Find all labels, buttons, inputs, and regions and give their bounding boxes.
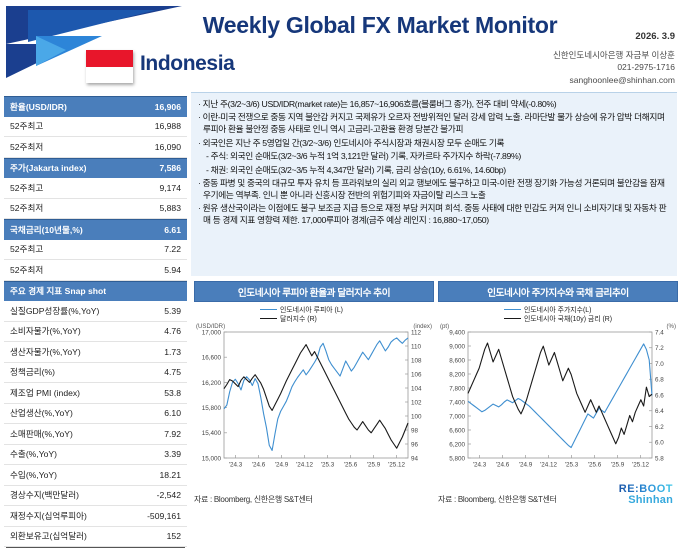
legend-swatch-icon	[260, 309, 277, 310]
table-row-value: 7,586	[159, 163, 181, 173]
svg-text:110: 110	[411, 343, 422, 350]
table-row-value: 7.92	[164, 429, 181, 439]
table-row: 52주최고9,174	[4, 178, 187, 199]
commentary-bullet: · 중동 파병 및 중국의 대규모 투자 유치 등 프라워보의 실리 외교 행보…	[198, 178, 670, 202]
table-row: 생산자물가(%,YoY)1.73	[4, 342, 187, 363]
svg-text:106: 106	[411, 371, 422, 378]
svg-text:9,400: 9,400	[449, 329, 465, 336]
chart-title-equity: 인도네시아 주가지수와 국채 금리추이	[438, 281, 678, 302]
table-row-label: 52주최저	[10, 141, 43, 153]
svg-text:'25.12: '25.12	[632, 462, 649, 469]
table-row-value: 5.94	[164, 265, 181, 275]
table-row: 경상수지(백만달러)-2,542	[4, 486, 187, 507]
svg-text:7,800: 7,800	[449, 385, 465, 392]
svg-text:6.8: 6.8	[655, 377, 664, 384]
table-row-label: 주요 경제 지표 Snap shot	[10, 285, 106, 297]
table-row-label: 주가(Jakarta index)	[10, 162, 86, 174]
svg-text:7,400: 7,400	[449, 399, 465, 406]
table-row-label: 52주최고	[10, 182, 43, 194]
svg-text:'25.9: '25.9	[611, 462, 625, 469]
svg-text:9,000: 9,000	[449, 343, 465, 350]
svg-text:15,400: 15,400	[202, 430, 222, 437]
svg-text:15,000: 15,000	[202, 455, 222, 462]
svg-text:'24.3: '24.3	[473, 462, 487, 469]
contact-block: 신한인도네시아은행 자금부 이상훈 021-2975-1716 sanghoon…	[553, 49, 675, 86]
svg-text:'25.9: '25.9	[367, 462, 381, 469]
series-line	[468, 343, 652, 444]
svg-text:6,600: 6,600	[449, 427, 465, 434]
svg-text:(pt): (pt)	[440, 323, 449, 330]
report-date: 2026. 3.9	[635, 31, 675, 42]
contact-author: 신한인도네시아은행 자금부 이상훈	[553, 49, 675, 61]
table-row: 정책금리(%)4.75	[4, 363, 187, 384]
table-row-label: 제조업 PMI (index)	[10, 387, 80, 399]
chart-title-fx: 인도네시아 루피아 환율과 달러지수 추이	[194, 281, 434, 302]
table-row: 52주최고7.22	[4, 240, 187, 261]
legend-swatch-icon	[260, 318, 277, 319]
svg-text:(USD/IDR): (USD/IDR)	[196, 323, 225, 330]
svg-text:7.0: 7.0	[655, 361, 664, 368]
table-section-header: 환율(USD/IDR)16,906	[4, 96, 187, 117]
svg-text:8,200: 8,200	[449, 371, 465, 378]
svg-text:(index): (index)	[413, 323, 432, 330]
svg-text:7.4: 7.4	[655, 329, 664, 336]
svg-text:94: 94	[411, 455, 419, 462]
page-title: Weekly Global FX Market Monitor	[180, 12, 580, 39]
table-row-value: -2,542	[157, 490, 181, 500]
svg-text:'24.9: '24.9	[519, 462, 533, 469]
table-row-value: 3.39	[164, 449, 181, 459]
svg-text:17,000: 17,000	[202, 329, 222, 336]
chart-legend-item: 인도네시아 국채(10y) 금리 (R)	[504, 313, 612, 323]
svg-text:5.8: 5.8	[655, 455, 664, 462]
table-row: 소매판매(%,YoY)7.92	[4, 424, 187, 445]
table-row-label: 수출(%,YoY)	[10, 448, 57, 460]
table-row-value: 1.73	[164, 347, 181, 357]
legend-label: 인도네시아 국채(10y) 금리 (R)	[524, 316, 612, 323]
page-header: Weekly Global FX Market Monitor 2026. 3.…	[0, 0, 681, 96]
table-section-header: 국채금리(10년물,%)6.61	[4, 219, 187, 240]
svg-text:7,000: 7,000	[449, 413, 465, 420]
table-row-label: 생산자물가(%,YoY)	[10, 346, 81, 358]
svg-text:112: 112	[411, 329, 422, 336]
svg-text:'25.12: '25.12	[388, 462, 405, 469]
svg-text:'25.3: '25.3	[565, 462, 579, 469]
table-section-header: 주요 경제 지표 Snap shot	[4, 281, 187, 302]
svg-text:96: 96	[411, 441, 419, 448]
table-row-value: 4.76	[164, 326, 181, 336]
svg-text:102: 102	[411, 399, 422, 406]
contact-email: sanghoonlee@shinhan.com	[553, 74, 675, 86]
table-row-label: 52주최저	[10, 202, 43, 214]
svg-text:(%): (%)	[667, 323, 676, 330]
legend-swatch-icon	[504, 309, 521, 310]
table-section-header: 주가(Jakarta index)7,586	[4, 158, 187, 179]
svg-text:15,800: 15,800	[202, 405, 222, 412]
chart-card-equity: 인도네시아 주가지수와 국채 금리추이 9,4009,0008,6008,200…	[438, 281, 678, 509]
svg-text:'25.3: '25.3	[321, 462, 335, 469]
table-row-label: 수입(%,YoY)	[10, 469, 57, 481]
country-label: Indonesia	[140, 52, 234, 76]
svg-text:'24.9: '24.9	[275, 462, 289, 469]
commentary-bullet: · 외국인은 지난 주 5영업일 간(3/2~3/6) 인도네시아 주식시장과 …	[198, 138, 670, 150]
table-row-label: 52주최저	[10, 264, 43, 276]
svg-text:6.6: 6.6	[655, 392, 664, 399]
svg-text:16,200: 16,200	[202, 380, 222, 387]
svg-text:'24.3: '24.3	[229, 462, 243, 469]
svg-text:'24.12: '24.12	[296, 462, 313, 469]
svg-text:108: 108	[411, 357, 422, 364]
svg-text:7.2: 7.2	[655, 345, 664, 352]
chart-source-equity: 자료 : Bloomberg, 신한은행 S&T센터	[438, 494, 557, 505]
chart-plot-fx: 17,00016,60016,20015,80015,40015,0001121…	[194, 302, 434, 474]
table-row: 52주최고16,988	[4, 117, 187, 138]
table-row-label: 외환보유고(십억달러)	[10, 530, 87, 542]
table-row-value: 16,090	[155, 142, 181, 152]
commentary-bullet: · 원유 생산국이라는 이점에도 불구 보조금 지급 등으로 재정 부담 커지며…	[198, 203, 670, 227]
table-row-label: 소비자물가(%,YoY)	[10, 325, 81, 337]
table-row: 산업생산(%,YoY)6.10	[4, 404, 187, 425]
table-row-value: 18.21	[159, 470, 181, 480]
table-row: 52주최저5.94	[4, 260, 187, 281]
svg-text:6.2: 6.2	[655, 424, 664, 431]
chart-source-fx: 자료 : Bloomberg, 신한은행 S&T센터	[194, 494, 313, 505]
table-row-label: 정책금리(%)	[10, 366, 55, 378]
reboot-shinhan-logo: RE:BOOT Shinhan	[619, 484, 673, 507]
svg-text:'24.6: '24.6	[252, 462, 266, 469]
table-row-value: 4.75	[164, 367, 181, 377]
table-row: 소비자물가(%,YoY)4.76	[4, 322, 187, 343]
table-row-label: 재정수지(십억루피아)	[10, 510, 87, 522]
table-row-value: -509,161	[147, 511, 181, 521]
table-row-value: 16,988	[155, 121, 181, 131]
svg-text:'24.6: '24.6	[496, 462, 510, 469]
chart-svg-0: 17,00016,60016,20015,80015,40015,0001121…	[194, 302, 434, 474]
table-row-value: 53.8	[164, 388, 181, 398]
commentary-panel: · 지난 주(3/2~3/6) USD/IDR(market rate)는 16…	[191, 92, 677, 276]
table-row: 52주최저5,883	[4, 199, 187, 220]
table-row-label: 산업생산(%,YoY)	[10, 407, 73, 419]
svg-text:5,800: 5,800	[449, 455, 465, 462]
svg-text:'25.6: '25.6	[344, 462, 358, 469]
indonesia-flag-icon	[86, 50, 133, 83]
svg-text:8,600: 8,600	[449, 357, 465, 364]
table-row-label: 52주최고	[10, 120, 43, 132]
table-row-label: 환율(USD/IDR)	[10, 101, 67, 113]
table-row-value: 5,883	[159, 203, 181, 213]
table-row-value: 152	[167, 531, 181, 541]
legend-swatch-icon	[504, 318, 521, 319]
table-row-label: 경상수지(백만달러)	[10, 489, 79, 501]
table-row-label: 소매판매(%,YoY)	[10, 428, 73, 440]
table-row: 외환보유고(십억달러)152	[4, 527, 187, 548]
commentary-bullet: · 이란-미국 전쟁으로 중동 지역 불안감 커지고 국제유가 오르자 전방위적…	[198, 112, 670, 136]
svg-text:100: 100	[411, 413, 422, 420]
svg-text:98: 98	[411, 427, 419, 434]
table-row: 실질GDP성장률(%,YoY)5.39	[4, 301, 187, 322]
commentary-bullet: · 지난 주(3/2~3/6) USD/IDR(market rate)는 16…	[198, 99, 670, 111]
market-snapshot-table: 환율(USD/IDR)16,90652주최고16,98852주최저16,090주…	[4, 96, 187, 548]
table-row-value: 6.61	[164, 225, 181, 235]
table-row: 재정수지(십억루피아)-509,161	[4, 506, 187, 527]
table-row-label: 52주최고	[10, 243, 43, 255]
table-row: 수입(%,YoY)18.21	[4, 465, 187, 486]
chart-svg-1: 9,4009,0008,6008,2007,8007,4007,0006,600…	[438, 302, 678, 474]
table-row-label: 국채금리(10년물,%)	[10, 224, 83, 236]
table-row-value: 7.22	[164, 244, 181, 254]
chart-card-fx: 인도네시아 루피아 환율과 달러지수 추이 17,00016,60016,200…	[194, 281, 434, 509]
svg-text:'24.12: '24.12	[540, 462, 557, 469]
svg-text:6.4: 6.4	[655, 408, 664, 415]
table-row-value: 5.39	[164, 306, 181, 316]
table-row-value: 9,174	[159, 183, 181, 193]
svg-text:6,200: 6,200	[449, 441, 465, 448]
chart-legend-item: 달러지수 (R)	[260, 313, 317, 323]
table-row: 52주최저16,090	[4, 137, 187, 158]
chart-plot-equity: 9,4009,0008,6008,2007,8007,4007,0006,600…	[438, 302, 678, 474]
svg-text:6.0: 6.0	[655, 440, 664, 447]
svg-text:16,600: 16,600	[202, 355, 222, 362]
commentary-bullet: - 주식: 외국인 순매도(3/2~3/6 누적 1억 3,121만 달러) 기…	[198, 151, 670, 163]
commentary-bullet: - 채권: 외국인 순매도(3/2~3/5 누적 4,347만 달러) 기록, …	[198, 165, 670, 177]
reboot-logo-line2: Shinhan	[619, 495, 673, 507]
table-row-value: 16,906	[155, 102, 181, 112]
svg-text:'25.6: '25.6	[588, 462, 602, 469]
contact-phone: 021-2975-1716	[553, 61, 675, 73]
table-row-value: 6.10	[164, 408, 181, 418]
table-row-label: 실질GDP성장률(%,YoY)	[10, 305, 99, 317]
legend-label: 달러지수 (R)	[280, 316, 317, 323]
svg-text:104: 104	[411, 385, 422, 392]
table-row: 수출(%,YoY)3.39	[4, 445, 187, 466]
table-row: 제조업 PMI (index)53.8	[4, 383, 187, 404]
